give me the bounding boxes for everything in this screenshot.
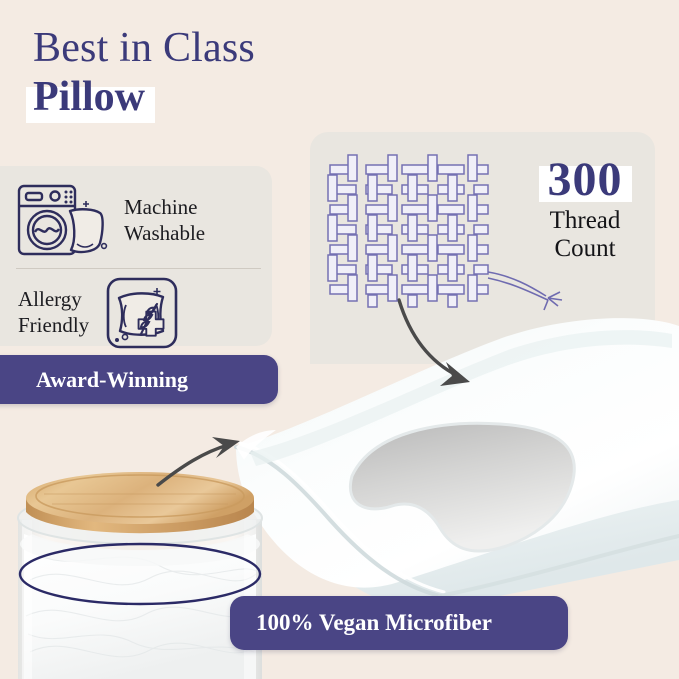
thread-count-block: 300 Thread Count <box>522 155 648 263</box>
badge-vegan-microfiber-label: 100% Vegan Microfiber <box>256 610 492 636</box>
headline-line-two: Pillow <box>33 74 145 120</box>
badge-vegan-microfiber: 100% Vegan Microfiber <box>230 596 568 650</box>
thread-count-number-wrapper: 300 <box>548 155 623 205</box>
thread-count-label: Thread Count <box>522 207 648 263</box>
feature-allergy-friendly: Allergy Friendly <box>18 276 179 350</box>
badge-award-winning-label: Award-Winning <box>36 367 188 393</box>
badge-award-winning: Award-Winning <box>0 355 278 404</box>
feature-machine-washable: Machine Washable <box>14 180 205 262</box>
loose-thread <box>488 272 562 310</box>
thread-count-number: 300 <box>548 153 623 206</box>
washing-machine-icon <box>14 180 110 262</box>
headline-line-one: Best in Class <box>33 26 453 71</box>
headline-line-two-wrapper: Pillow <box>33 75 145 120</box>
feature-machine-washable-label: Machine Washable <box>124 195 205 246</box>
feature-allergy-friendly-label: Allergy Friendly <box>18 287 89 338</box>
product-infographic: Best in Class Pillow <box>0 0 679 679</box>
allergy-pillow-feather-icon <box>105 276 179 350</box>
page-title: Best in Class Pillow <box>33 26 453 121</box>
